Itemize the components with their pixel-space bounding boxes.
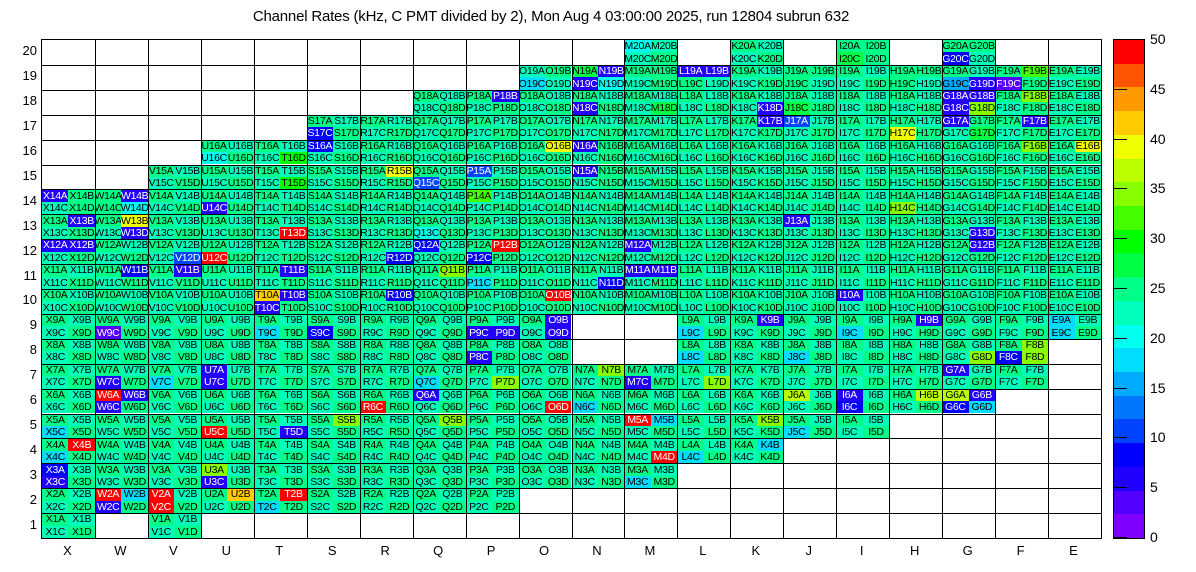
heatmap-cell[interactable]: N18A [572,90,598,102]
heatmap-cell[interactable]: J5C [783,426,809,438]
heatmap-cell[interactable]: S5B [333,414,359,426]
heatmap-cell[interactable]: V14C [148,202,174,214]
heatmap-cell[interactable]: N15A [572,165,598,177]
heatmap-cell[interactable]: M15B [651,165,677,177]
heatmap-cell[interactable]: O12D [545,252,571,264]
heatmap-cell[interactable]: K18C [730,102,756,114]
heatmap-cell[interactable]: G9C [942,326,968,338]
heatmap-cell[interactable]: K12B [757,239,783,251]
heatmap-cell[interactable]: N7D [598,376,624,388]
heatmap-cell[interactable]: W12A [95,239,121,251]
heatmap-cell[interactable]: M11B [651,264,677,276]
heatmap-cell[interactable]: R6D [386,401,412,413]
heatmap-cell[interactable]: S17A [307,115,333,127]
heatmap-cell[interactable]: I19A [836,65,862,77]
heatmap-cell[interactable]: G16C [942,152,968,164]
heatmap-cell[interactable]: X9D [68,326,94,338]
heatmap-cell[interactable]: V13C [148,227,174,239]
heatmap-cell[interactable]: N5D [598,426,624,438]
heatmap-cell[interactable]: W14D [121,202,147,214]
heatmap-cell[interactable]: N12D [598,252,624,264]
heatmap-cell[interactable]: P13A [466,214,492,226]
heatmap-cell[interactable]: T5B [280,414,306,426]
heatmap-cell[interactable]: V7A [148,364,174,376]
heatmap-cell[interactable]: P8A [466,339,492,351]
heatmap-cell[interactable]: H8A [889,339,915,351]
heatmap-cell[interactable]: L8C [677,351,703,363]
heatmap-cell[interactable]: L11D [704,277,730,289]
heatmap-cell[interactable]: T4A [254,438,280,450]
heatmap-cell[interactable]: V9A [148,314,174,326]
heatmap-cell[interactable]: G16B [969,140,995,152]
heatmap-cell[interactable]: E15D [1075,177,1101,189]
heatmap-cell[interactable]: R9B [386,314,412,326]
heatmap-cell[interactable]: R5A [360,414,386,426]
heatmap-cell[interactable]: J10D [810,301,836,313]
heatmap-cell[interactable]: R14D [386,202,412,214]
heatmap-cell[interactable]: G6D [969,401,995,413]
heatmap-cell[interactable]: I15D [863,177,889,189]
heatmap-cell[interactable]: W6C [95,401,121,413]
heatmap-cell[interactable]: I15A [836,165,862,177]
heatmap-cell[interactable]: K5C [730,426,756,438]
heatmap-cell[interactable]: L15D [704,177,730,189]
heatmap-cell[interactable]: Q2D [439,501,465,513]
heatmap-cell[interactable]: G11D [969,277,995,289]
heatmap-cell[interactable]: G6B [969,389,995,401]
heatmap-cell[interactable]: H11A [889,264,915,276]
heatmap-cell[interactable]: U7A [201,364,227,376]
heatmap-cell[interactable]: O11A [519,264,545,276]
heatmap-cell[interactable]: U3B [227,463,253,475]
heatmap-cell[interactable]: X2D [68,501,94,513]
heatmap-cell[interactable]: U6B [227,389,253,401]
heatmap-cell[interactable]: X5C [42,426,68,438]
heatmap-cell[interactable]: G6A [942,389,968,401]
heatmap-cell[interactable]: N11B [598,264,624,276]
heatmap-cell[interactable]: O16C [519,152,545,164]
heatmap-cell[interactable]: H15C [889,177,915,189]
heatmap-cell[interactable]: E11C [1048,277,1074,289]
heatmap-cell[interactable]: P5C [466,426,492,438]
heatmap-cell[interactable]: O19A [519,65,545,77]
heatmap-cell[interactable]: O7A [519,364,545,376]
heatmap-cell[interactable]: O3C [519,476,545,488]
heatmap-cell[interactable]: V10C [148,301,174,313]
heatmap-cell[interactable]: K6C [730,401,756,413]
heatmap-cell[interactable]: E11D [1075,277,1101,289]
heatmap-cell[interactable]: S10A [307,289,333,301]
heatmap-cell[interactable]: P3C [466,476,492,488]
heatmap-cell[interactable]: X1A [42,513,68,525]
heatmap-cell[interactable]: T6C [254,401,280,413]
heatmap-cell[interactable]: O15D [545,177,571,189]
heatmap-cell[interactable]: P12B [492,239,518,251]
heatmap-cell[interactable]: J17B [810,115,836,127]
heatmap-cell[interactable]: Q9A [413,314,439,326]
heatmap-cell[interactable]: R12C [360,252,386,264]
heatmap-cell[interactable]: V7B [174,364,200,376]
heatmap-cell[interactable]: N4A [572,438,598,450]
heatmap-cell[interactable]: T12B [280,239,306,251]
heatmap-cell[interactable]: I18A [836,90,862,102]
heatmap-cell[interactable]: K10C [730,301,756,313]
heatmap-cell[interactable]: K8A [730,339,756,351]
heatmap-cell[interactable]: X7A [42,364,68,376]
heatmap-cell[interactable]: S12D [333,252,359,264]
heatmap-cell[interactable]: H13C [889,227,915,239]
heatmap-cell[interactable]: T16B [280,140,306,152]
heatmap-cell[interactable]: K17C [730,127,756,139]
heatmap-cell[interactable]: T15B [280,165,306,177]
heatmap-cell[interactable]: V14D [174,202,200,214]
heatmap-cell[interactable]: N19D [598,77,624,89]
heatmap-cell[interactable]: S17C [307,127,333,139]
heatmap-cell[interactable]: F8A [995,339,1021,351]
heatmap-cell[interactable]: X11D [68,277,94,289]
heatmap-cell[interactable]: K5D [757,426,783,438]
heatmap-cell[interactable]: S7C [307,376,333,388]
heatmap-cell[interactable]: N7C [572,376,598,388]
heatmap-cell[interactable]: O10C [519,301,545,313]
heatmap-cell[interactable]: T11C [254,277,280,289]
heatmap-cell[interactable]: K5A [730,414,756,426]
heatmap-cell[interactable]: G20A [942,40,968,52]
heatmap-cell[interactable]: E16A [1048,140,1074,152]
heatmap-cell[interactable]: G14C [942,202,968,214]
heatmap-cell[interactable]: P2A [466,488,492,500]
heatmap-cell[interactable]: J14C [783,202,809,214]
heatmap-cell[interactable]: H12B [916,239,942,251]
heatmap-cell[interactable]: Q9C [413,326,439,338]
heatmap-cell[interactable]: F14A [995,189,1021,201]
heatmap-cell[interactable]: N12C [572,252,598,264]
heatmap-cell[interactable]: V14B [174,189,200,201]
heatmap-cell[interactable]: X13A [42,214,68,226]
heatmap-cell[interactable]: V15C [148,177,174,189]
heatmap-cell[interactable]: N5A [572,414,598,426]
heatmap-cell[interactable]: Q6D [439,401,465,413]
heatmap-cell[interactable]: U9D [227,326,253,338]
heatmap-cell[interactable]: F16B [1022,140,1048,152]
heatmap-cell[interactable]: P9A [466,314,492,326]
heatmap-cell[interactable]: F12A [995,239,1021,251]
heatmap-cell[interactable]: E18C [1048,102,1074,114]
heatmap-cell[interactable]: R4D [386,451,412,463]
heatmap-cell[interactable]: X10B [68,289,94,301]
heatmap-cell[interactable]: Q14C [413,202,439,214]
heatmap-cell[interactable]: X12D [68,252,94,264]
heatmap-cell[interactable]: M7C [624,376,650,388]
heatmap-cell[interactable]: S13C [307,227,333,239]
heatmap-cell[interactable]: G13D [969,227,995,239]
heatmap-cell[interactable]: O13A [519,214,545,226]
heatmap-cell[interactable]: J8B [810,339,836,351]
heatmap-cell[interactable]: L9C [677,326,703,338]
heatmap-cell[interactable]: N3B [598,463,624,475]
heatmap-cell[interactable]: Q15A [413,165,439,177]
heatmap-cell[interactable]: J19D [810,77,836,89]
heatmap-cell[interactable]: R16A [360,140,386,152]
heatmap-cell[interactable]: K18A [730,90,756,102]
heatmap-cell[interactable]: M14D [651,202,677,214]
heatmap-cell[interactable]: I19C [836,77,862,89]
heatmap-cell[interactable]: S6B [333,389,359,401]
heatmap-cell[interactable]: X1C [42,526,68,538]
heatmap-cell[interactable]: I14A [836,189,862,201]
heatmap-cell[interactable]: V1D [174,526,200,538]
heatmap-cell[interactable]: V11A [148,264,174,276]
heatmap-cell[interactable]: O7C [519,376,545,388]
heatmap-cell[interactable]: P12D [492,252,518,264]
heatmap-cell[interactable]: E17C [1048,127,1074,139]
heatmap-cell[interactable]: O12C [519,252,545,264]
heatmap-cell[interactable]: H15A [889,165,915,177]
heatmap-cell[interactable]: L12A [677,239,703,251]
heatmap-cell[interactable]: S11B [333,264,359,276]
heatmap-cell[interactable]: H10D [916,301,942,313]
heatmap-cell[interactable]: G11C [942,277,968,289]
heatmap-cell[interactable]: F17D [1022,127,1048,139]
heatmap-cell[interactable]: M10A [624,289,650,301]
heatmap-cell[interactable]: M7D [651,376,677,388]
heatmap-cell[interactable]: Q8A [413,339,439,351]
heatmap-cell[interactable]: G20B [969,40,995,52]
heatmap-cell[interactable]: E19D [1075,77,1101,89]
heatmap-cell[interactable]: H17C [889,127,915,139]
heatmap-cell[interactable]: S14D [333,202,359,214]
heatmap-cell[interactable]: P6A [466,389,492,401]
heatmap-cell[interactable]: J9C [783,326,809,338]
heatmap-cell[interactable]: X3C [42,476,68,488]
heatmap-cell[interactable]: G16A [942,140,968,152]
heatmap-cell[interactable]: N18B [598,90,624,102]
heatmap-cell[interactable]: T13C [254,227,280,239]
heatmap-cell[interactable]: J14A [783,189,809,201]
heatmap-cell[interactable]: K7B [757,364,783,376]
heatmap-cell[interactable]: S15A [307,165,333,177]
heatmap-cell[interactable]: W5A [95,414,121,426]
heatmap-cell[interactable]: R2B [386,488,412,500]
heatmap-cell[interactable]: K18D [757,102,783,114]
heatmap-cell[interactable]: L5A [677,414,703,426]
heatmap-cell[interactable]: F8D [1022,351,1048,363]
heatmap-cell[interactable]: H8D [916,351,942,363]
heatmap-cell[interactable]: X2B [68,488,94,500]
heatmap-cell[interactable]: W14A [95,189,121,201]
heatmap-cell[interactable]: S7B [333,364,359,376]
heatmap-cell[interactable]: G9D [969,326,995,338]
heatmap-cell[interactable]: J11B [810,264,836,276]
heatmap-cell[interactable]: R17A [360,115,386,127]
heatmap-cell[interactable]: O8B [545,339,571,351]
heatmap-cell[interactable]: O17B [545,115,571,127]
heatmap-cell[interactable]: F15B [1022,165,1048,177]
heatmap-cell[interactable]: R9D [386,326,412,338]
heatmap-cell[interactable]: V6B [174,389,200,401]
heatmap-cell[interactable]: U2D [227,501,253,513]
heatmap-cell[interactable]: T3A [254,463,280,475]
heatmap-cell[interactable]: K11D [757,277,783,289]
heatmap-cell[interactable]: X6B [68,389,94,401]
heatmap-cell[interactable]: Q18B [439,90,465,102]
heatmap-cell[interactable]: V3D [174,476,200,488]
heatmap-cell[interactable]: P14D [492,202,518,214]
heatmap-cell[interactable]: N3C [572,476,598,488]
heatmap-cell[interactable]: T9C [254,326,280,338]
heatmap-cell[interactable]: Q10B [439,289,465,301]
heatmap-cell[interactable]: V2B [174,488,200,500]
heatmap-cell[interactable]: Q3A [413,463,439,475]
heatmap-cell[interactable]: X13B [68,214,94,226]
heatmap-cell[interactable]: Q15D [439,177,465,189]
heatmap-cell[interactable]: J6C [783,401,809,413]
heatmap-cell[interactable]: U2B [227,488,253,500]
heatmap-cell[interactable]: E15B [1075,165,1101,177]
heatmap-cell[interactable]: T6D [280,401,306,413]
heatmap-cell[interactable]: P14A [466,189,492,201]
heatmap-cell[interactable]: U11A [201,264,227,276]
heatmap-cell[interactable]: I7B [863,364,889,376]
heatmap-cell[interactable]: O18D [545,102,571,114]
heatmap-cell[interactable]: S2C [307,501,333,513]
heatmap-cell[interactable]: Q7B [439,364,465,376]
heatmap-cell[interactable]: T12D [280,252,306,264]
heatmap-cell[interactable]: T6A [254,389,280,401]
heatmap-cell[interactable]: T8A [254,339,280,351]
heatmap-cell[interactable]: M20D [651,52,677,64]
heatmap-cell[interactable]: I19D [863,77,889,89]
heatmap-cell[interactable]: T10B [280,289,306,301]
heatmap-cell[interactable]: T7B [280,364,306,376]
heatmap-cell[interactable]: U4D [227,451,253,463]
heatmap-cell[interactable]: W14B [121,189,147,201]
heatmap-cell[interactable]: L5B [704,414,730,426]
heatmap-cell[interactable]: X12A [42,239,68,251]
heatmap-cell[interactable]: N14C [572,202,598,214]
heatmap-cell[interactable]: S2D [333,501,359,513]
heatmap-cell[interactable]: G10B [969,289,995,301]
heatmap-cell[interactable]: L11B [704,264,730,276]
heatmap-cell[interactable]: N14B [598,189,624,201]
heatmap-cell[interactable]: U8D [227,351,253,363]
heatmap-cell[interactable]: I9A [836,314,862,326]
heatmap-cell[interactable]: M19D [651,77,677,89]
heatmap-cell[interactable]: P17C [466,127,492,139]
heatmap-cell[interactable]: J9D [810,326,836,338]
heatmap-cell[interactable]: R11C [360,277,386,289]
heatmap-cell[interactable]: S8D [333,351,359,363]
heatmap-cell[interactable]: I19B [863,65,889,77]
heatmap-cell[interactable]: M20C [624,52,650,64]
heatmap-cell[interactable]: S14B [333,189,359,201]
heatmap-cell[interactable]: F18A [995,90,1021,102]
heatmap-cell[interactable]: I12B [863,239,889,251]
heatmap-cell[interactable]: O9C [519,326,545,338]
heatmap-cell[interactable]: S3B [333,463,359,475]
heatmap-cell[interactable]: F7D [1022,376,1048,388]
heatmap-cell[interactable]: X14D [68,202,94,214]
heatmap-cell[interactable]: E9A [1048,314,1074,326]
heatmap-cell[interactable]: F7C [995,376,1021,388]
heatmap-cell[interactable]: P3D [492,476,518,488]
heatmap-cell[interactable]: N18C [572,102,598,114]
heatmap-cell[interactable]: U4B [227,438,253,450]
heatmap-cell[interactable]: Q5D [439,426,465,438]
heatmap-cell[interactable]: N6B [598,389,624,401]
heatmap-cell[interactable]: O5C [519,426,545,438]
heatmap-cell[interactable]: O11D [545,277,571,289]
heatmap-cell[interactable]: L15B [704,165,730,177]
heatmap-cell[interactable]: X3D [68,476,94,488]
heatmap-cell[interactable]: G17D [969,127,995,139]
heatmap-cell[interactable]: Q10A [413,289,439,301]
heatmap-cell[interactable]: J17A [783,115,809,127]
heatmap-cell[interactable]: R14A [360,189,386,201]
heatmap-cell[interactable]: L17A [677,115,703,127]
heatmap-cell[interactable]: Q14D [439,202,465,214]
heatmap-cell[interactable]: N17D [598,127,624,139]
heatmap-cell[interactable]: M4A [624,438,650,450]
heatmap-cell[interactable]: O15C [519,177,545,189]
heatmap-cell[interactable]: R6C [360,401,386,413]
heatmap-cell[interactable]: K18B [757,90,783,102]
heatmap-cell[interactable]: N11A [572,264,598,276]
heatmap-cell[interactable]: R15B [386,165,412,177]
heatmap-cell[interactable]: R10C [360,301,386,313]
heatmap-cell[interactable]: Q8B [439,339,465,351]
heatmap-cell[interactable]: H18C [889,102,915,114]
heatmap-cell[interactable]: Q12C [413,252,439,264]
heatmap-cell[interactable]: I17B [863,115,889,127]
heatmap-cell[interactable]: P9D [492,326,518,338]
heatmap-cell[interactable]: L19B [704,65,730,77]
heatmap-cell[interactable]: T3C [254,476,280,488]
heatmap-cell[interactable]: O15A [519,165,545,177]
heatmap-cell[interactable]: F14D [1022,202,1048,214]
heatmap-cell[interactable]: I20C [836,52,862,64]
heatmap-cell[interactable]: E10B [1075,289,1101,301]
heatmap-cell[interactable]: S13B [333,214,359,226]
heatmap-cell[interactable]: X14C [42,202,68,214]
heatmap-cell[interactable]: X4C [42,451,68,463]
heatmap-cell[interactable]: X14A [42,189,68,201]
heatmap-cell[interactable]: I5D [863,426,889,438]
heatmap-cell[interactable]: S8C [307,351,333,363]
heatmap-cell[interactable]: P7C [466,376,492,388]
heatmap-cell[interactable]: U14D [227,202,253,214]
heatmap-cell[interactable]: W3B [121,463,147,475]
heatmap-cell[interactable]: G11A [942,264,968,276]
heatmap-cell[interactable]: R2D [386,501,412,513]
heatmap-cell[interactable]: N4C [572,451,598,463]
heatmap-cell[interactable]: O17C [519,127,545,139]
heatmap-cell[interactable]: R11A [360,264,386,276]
heatmap-cell[interactable]: T11A [254,264,280,276]
heatmap-cell[interactable]: P4B [492,438,518,450]
heatmap-cell[interactable]: I12D [863,252,889,264]
heatmap-cell[interactable]: N5C [572,426,598,438]
heatmap-cell[interactable]: T14C [254,202,280,214]
heatmap-cell[interactable]: R5C [360,426,386,438]
heatmap-cell[interactable]: V5D [174,426,200,438]
heatmap-cell[interactable]: J18D [810,102,836,114]
heatmap-cell[interactable]: E14A [1048,189,1074,201]
heatmap-cell[interactable]: S4A [307,438,333,450]
heatmap-cell[interactable]: T9D [280,326,306,338]
heatmap-cell[interactable]: F10C [995,301,1021,313]
heatmap-cell[interactable]: I8D [863,351,889,363]
